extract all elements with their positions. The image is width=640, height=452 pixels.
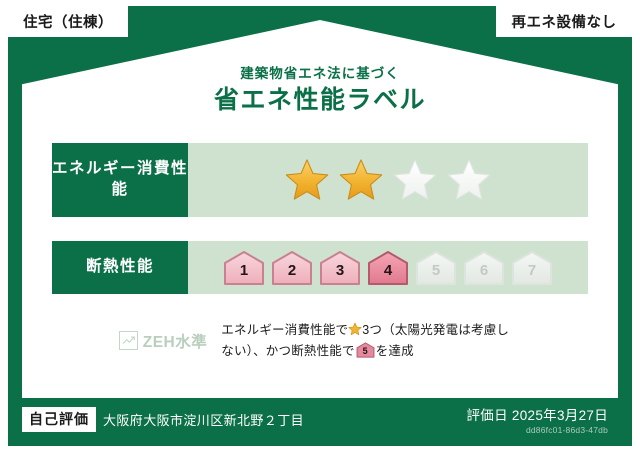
insulation-level-badge: 6 bbox=[463, 250, 505, 286]
insulation-performance-label: 断熱性能 bbox=[52, 241, 188, 294]
insulation-level-number: 3 bbox=[319, 250, 361, 286]
insulation-performance-rating: 1234567 bbox=[188, 241, 588, 294]
energy-performance-rating bbox=[188, 143, 588, 217]
label-content-panel: 建築物省エネ法に基づく 省エネ性能ラベル エネルギー消費性能 bbox=[22, 20, 618, 398]
insulation-level-badge: 3 bbox=[319, 250, 361, 286]
zeh-badge: ZEH水準 bbox=[119, 330, 208, 352]
evaluation-meta: 評価日 2025年3月27日 dd86fc01-86d3-47db bbox=[466, 404, 618, 435]
evaluation-type-chip: 自己評価 bbox=[22, 407, 96, 432]
zeh-description-part1: エネルギー消費性能で bbox=[221, 323, 348, 337]
evaluation-id: dd86fc01-86d3-47db bbox=[466, 425, 608, 435]
insulation-level-number: 2 bbox=[271, 250, 313, 286]
label-subtitle: 建築物省エネ法に基づく bbox=[22, 66, 618, 82]
inline-insulation-badge-number: 5 bbox=[356, 342, 375, 358]
energy-performance-label-card: 住宅（住棟） 再エネ設備なし 建築物省エネ法に基づく 省エネ性能ラベル エネルギ… bbox=[8, 6, 632, 446]
label-title-block: 建築物省エネ法に基づく 省エネ性能ラベル bbox=[22, 66, 618, 118]
building-type-tab-label: 住宅（住棟） bbox=[23, 11, 113, 32]
renewable-equipment-tab-label: 再エネ設備なし bbox=[512, 11, 617, 32]
renewable-equipment-tab: 再エネ設備なし bbox=[496, 6, 632, 37]
address-text: 大阪府大阪市淀川区新北野２丁目 bbox=[103, 410, 304, 429]
star-rating-strip bbox=[284, 157, 492, 203]
inline-insulation-badge: 5 bbox=[356, 342, 375, 358]
insulation-level-badge: 7 bbox=[511, 250, 553, 286]
star-icon bbox=[284, 157, 330, 203]
label-footer: 自己評価 大阪府大阪市淀川区新北野２丁目 評価日 2025年3月27日 dd86… bbox=[22, 404, 618, 434]
insulation-level-number: 7 bbox=[511, 250, 553, 286]
star-icon bbox=[446, 157, 492, 203]
label-title: 省エネ性能ラベル bbox=[22, 84, 618, 118]
star-icon bbox=[338, 157, 384, 203]
insulation-level-number: 5 bbox=[415, 250, 457, 286]
insulation-level-number: 6 bbox=[463, 250, 505, 286]
zeh-chart-icon bbox=[119, 331, 138, 350]
insulation-level-badge: 1 bbox=[223, 250, 265, 286]
star-icon bbox=[348, 322, 362, 336]
insulation-level-badge: 5 bbox=[415, 250, 457, 286]
insulation-level-badge: 2 bbox=[271, 250, 313, 286]
star-icon bbox=[392, 157, 438, 203]
zeh-standard-note: ZEH水準 エネルギー消費性能で3つ（太陽光発電は考慮しない）、かつ断熱性能で5… bbox=[52, 320, 588, 361]
zeh-description-part3: を達成 bbox=[376, 344, 414, 358]
insulation-level-number: 1 bbox=[223, 250, 265, 286]
energy-performance-row: エネルギー消費性能 bbox=[52, 143, 588, 217]
evaluation-date: 評価日 2025年3月27日 bbox=[466, 404, 608, 424]
zeh-description: エネルギー消費性能で3つ（太陽光発電は考慮しない）、かつ断熱性能で5を達成 bbox=[221, 320, 521, 361]
insulation-level-number: 4 bbox=[367, 250, 409, 286]
building-type-tab: 住宅（住棟） bbox=[8, 6, 128, 37]
insulation-level-badge: 4 bbox=[367, 250, 409, 286]
insulation-level-strip: 1234567 bbox=[223, 250, 553, 286]
insulation-performance-row: 断熱性能 1234567 bbox=[52, 241, 588, 294]
energy-performance-label: エネルギー消費性能 bbox=[52, 143, 188, 217]
zeh-label: ZEH水準 bbox=[143, 330, 208, 352]
